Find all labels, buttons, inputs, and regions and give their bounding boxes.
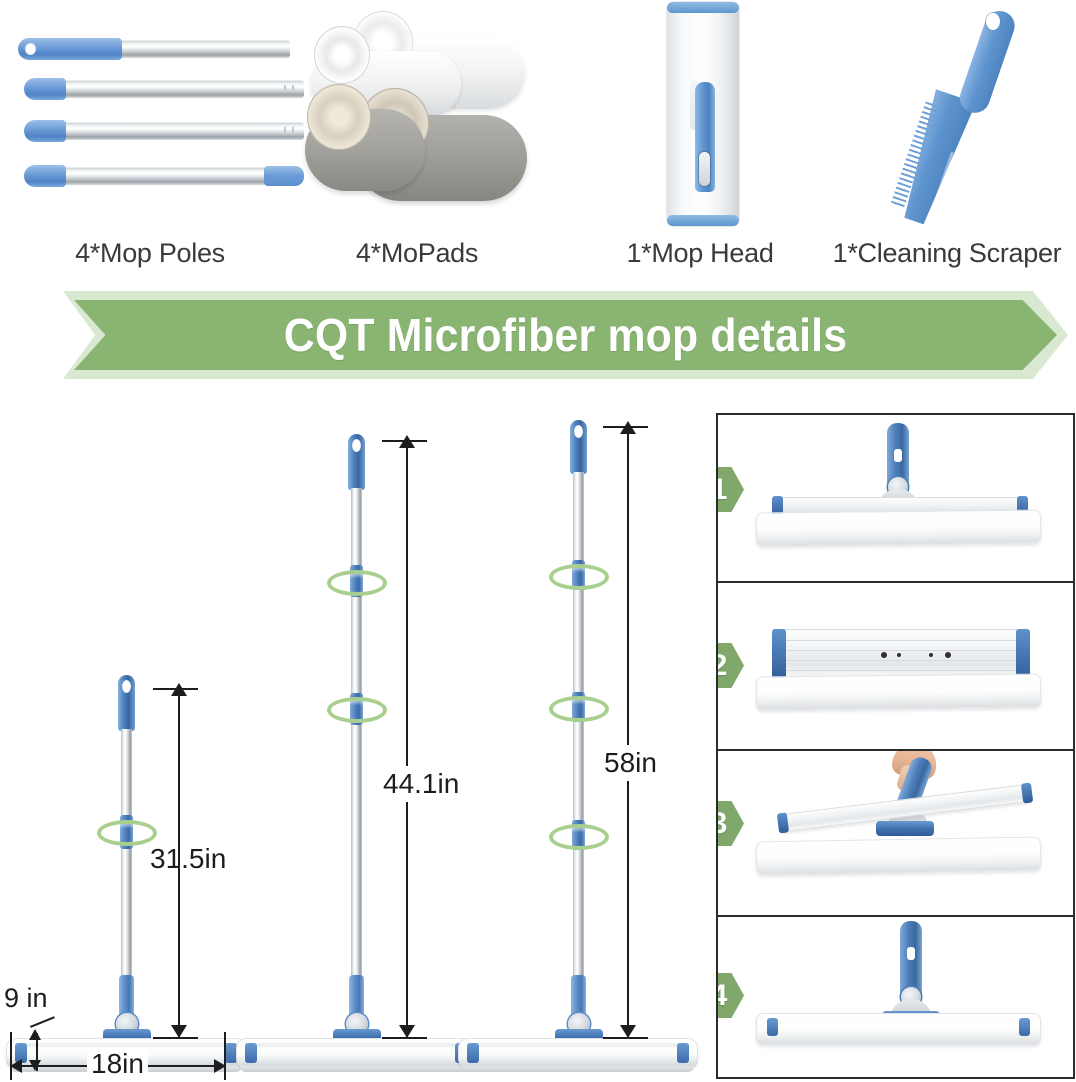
instruction-panel-4: 4 [718,917,1073,1077]
frame-clip-left [777,812,789,833]
pad-clip-right [1019,1018,1030,1036]
mop-shaft-upper [121,729,132,989]
mop-figure-large [460,400,700,1082]
mop-pad-plate [458,1038,698,1068]
pad-clip-left [245,1043,257,1063]
collar-ring-2 [327,697,387,723]
step-badge-2: 2 [718,643,744,688]
mop-grip [348,434,365,490]
dim-label-height-medium: 44.1in [380,766,462,802]
mop-pad-assembled [756,1013,1041,1045]
frame-hole-3 [929,653,933,657]
ext-line-top [603,426,648,428]
dim-line-vertical [406,440,408,1038]
dim-line-vertical [627,426,629,1038]
pole-cap [24,120,66,142]
mop-pole-3 [24,120,290,142]
mop-figure-medium [255,400,495,1082]
mop-figure-small [0,400,240,1082]
frame-hole-1 [881,652,887,658]
hang-hole-icon [122,680,131,693]
step-badge-3: 3 [718,801,744,846]
mop-pad [756,510,1041,547]
frame-hole-4 [945,652,951,658]
mop-pole-2 [24,78,290,100]
scraper-hang-hole-icon [986,13,1000,30]
pole-tube [60,80,304,98]
mop-head-lever [699,152,710,186]
pad-clip-left [767,1018,778,1036]
pole-tube [60,122,304,140]
pole-cap [24,78,66,100]
ext-line-top [153,688,198,690]
mop-pad [756,674,1041,711]
pole-tube [116,40,290,58]
ext-line-bottom [603,1037,648,1039]
mop-pad [756,837,1042,876]
pad-clip-left [467,1043,479,1063]
mop-frame-plate [776,629,1026,679]
mop-pad-fringe [240,1066,472,1072]
collar-ring-1 [327,570,387,596]
mop-shaft [351,488,362,988]
hang-hole-icon [352,439,361,452]
collar-ring-1 [549,564,609,590]
dim-label-pad-depth: 9 in [4,983,48,1014]
step-badge-1: 1 [718,467,744,512]
product-label-cleaning-scraper: 1*Cleaning Scraper [818,238,1076,269]
ext-line-left [10,1032,12,1080]
mop-grip [118,675,135,731]
ext-line-right [224,1032,226,1080]
handle-slot [894,449,902,462]
dim-label-height-large: 58in [601,745,660,781]
instruction-panel-3: 3 [718,751,1073,915]
collar-ring-2 [549,696,609,722]
product-label-mop-poles: 4*Mop Poles [30,238,270,269]
arrow-up-icon [29,1029,41,1040]
pole-cap [24,165,66,187]
product-infographic: 4*Mop Poles 4*MoPads 1*Mop Head 1*Cleani… [0,0,1076,1082]
mop-pole-with-grip [18,38,290,60]
ext-line-top [382,440,427,442]
ext-line-bottom [153,1037,198,1039]
product-image-mop-head [655,2,753,227]
dim-label-height-small: 31.5in [150,843,226,875]
collar-ring-3 [549,824,609,850]
mop-grip [570,420,587,474]
mop-pole-4 [24,165,290,187]
pole-end-cap [264,166,304,186]
handle-slot [907,947,915,960]
bracket [876,821,934,836]
product-image-mop-poles [10,30,290,220]
mop-shaft [573,472,584,988]
product-label-mop-pads: 4*MoPads [297,238,537,269]
instruction-panel-1: 1 [718,415,1073,581]
banner-title: CQT Microfiber mop details [98,291,1033,379]
ext-line-bottom [382,1037,427,1039]
mop-head-bottom-cap [667,215,739,226]
pole-grip-cap [18,38,122,60]
product-image-mop-pads [305,33,530,218]
mop-pad-fringe [462,1066,694,1072]
product-image-cleaning-scraper [895,2,1015,227]
mop-pad-plate [236,1038,476,1068]
hang-hole-icon [574,425,583,438]
product-contents-row: 4*Mop Poles 4*MoPads 1*Mop Head 1*Cleani… [0,0,1076,285]
frame-hole-2 [897,653,901,657]
product-label-mop-head: 1*Mop Head [585,238,815,269]
scraper-body [895,2,1015,227]
pole-tube [60,167,270,185]
frame-clip-left [772,629,786,681]
mop-head-top-cap [667,2,739,13]
instruction-panel-grid: 1 2 [716,413,1075,1079]
section-banner: CQT Microfiber mop details [63,291,1068,379]
mop-pad-roll-beige [305,109,425,191]
instruction-panel-2: 2 [718,583,1073,749]
pad-clip-right [677,1043,689,1063]
frame-clip-right [1021,782,1033,803]
dim-label-pad-width: 18in [87,1048,148,1080]
collar-ring-1 [97,820,157,846]
mop-size-diagram: 31.5in 9 in 18in [0,400,710,1082]
hang-hole-icon [25,43,36,55]
step-badge-4: 4 [718,973,744,1018]
